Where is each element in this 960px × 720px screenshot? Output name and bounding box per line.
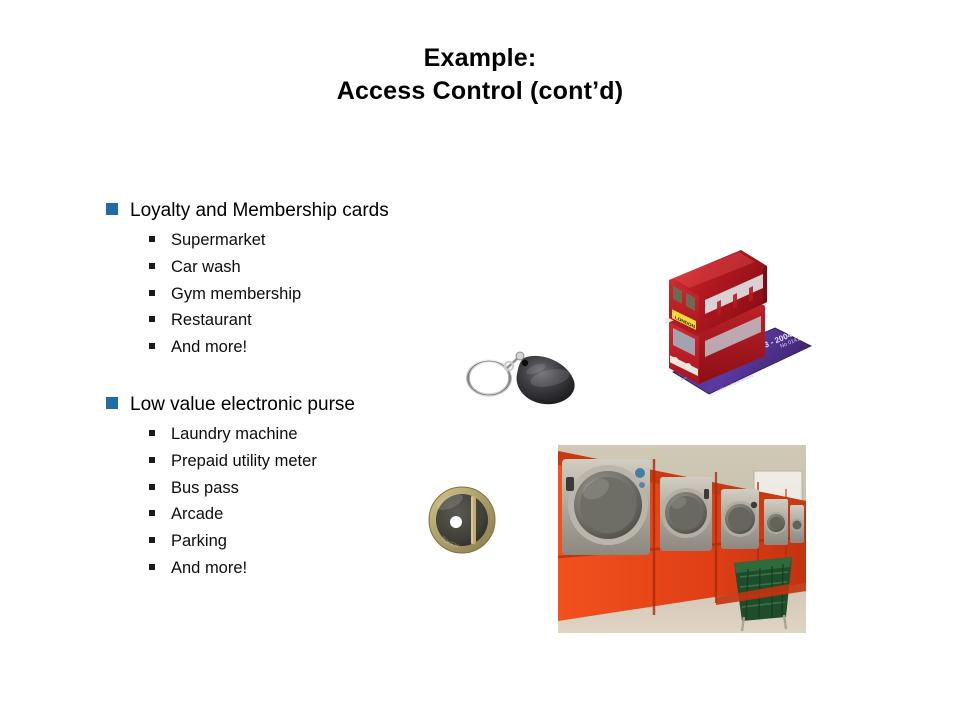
bullet-heading-loyalty: Loyalty and Membership cards — [106, 196, 506, 225]
small-square-bullet-icon — [149, 510, 155, 516]
small-square-bullet-icon — [149, 484, 155, 490]
laundromat-photo — [558, 445, 806, 633]
list-item: Prepaid utility meter — [106, 448, 506, 475]
rfid-keyfob-photo — [462, 336, 584, 408]
list-item: Restaurant — [106, 307, 506, 334]
bullet-heading-epurse: Low value electronic purse — [106, 390, 506, 419]
list-item: And more! — [106, 334, 506, 361]
square-bullet-icon — [106, 397, 118, 409]
list-item-label: Supermarket — [171, 227, 265, 254]
list-item-label: Restaurant — [171, 307, 252, 334]
list-item: Supermarket — [106, 227, 506, 254]
list-item-label: Car wash — [171, 254, 241, 281]
bullet-group-loyalty: Loyalty and Membership cards Supermarket… — [106, 196, 506, 361]
page-title: Example: Access Control (cont’d) — [0, 42, 960, 108]
list-item-label: Prepaid utility meter — [171, 448, 317, 475]
list-item-label: And more! — [171, 334, 247, 361]
square-bullet-icon — [106, 203, 118, 215]
list-item-label: And more! — [171, 555, 247, 582]
laundry-token-photo: TOKEN — [424, 484, 500, 556]
bullet-heading-label: Low value electronic purse — [130, 390, 355, 419]
bus-pass-photo: Bus Pass 2003 - 2004 No 0141 Metro Autho… — [655, 244, 815, 412]
list-item-label: Laundry machine — [171, 421, 298, 448]
small-square-bullet-icon — [149, 457, 155, 463]
list-item: And more! — [106, 555, 506, 582]
small-square-bullet-icon — [149, 564, 155, 570]
bullet-heading-label: Loyalty and Membership cards — [130, 196, 389, 225]
list-item-label: Arcade — [171, 501, 223, 528]
title-line-2: Access Control (cont’d) — [0, 75, 960, 108]
small-square-bullet-icon — [149, 537, 155, 543]
slide-canvas: Example: Access Control (cont’d) Loyalty… — [0, 0, 960, 720]
list-item: Car wash — [106, 254, 506, 281]
small-square-bullet-icon — [149, 316, 155, 322]
list-item: Laundry machine — [106, 421, 506, 448]
list-item: Gym membership — [106, 281, 506, 308]
list-item-label: Gym membership — [171, 281, 301, 308]
list-item-label: Bus pass — [171, 475, 239, 502]
small-square-bullet-icon — [149, 430, 155, 436]
small-square-bullet-icon — [149, 263, 155, 269]
list-item-label: Parking — [171, 528, 227, 555]
small-square-bullet-icon — [149, 290, 155, 296]
small-square-bullet-icon — [149, 343, 155, 349]
small-square-bullet-icon — [149, 236, 155, 242]
title-line-1: Example: — [0, 42, 960, 75]
